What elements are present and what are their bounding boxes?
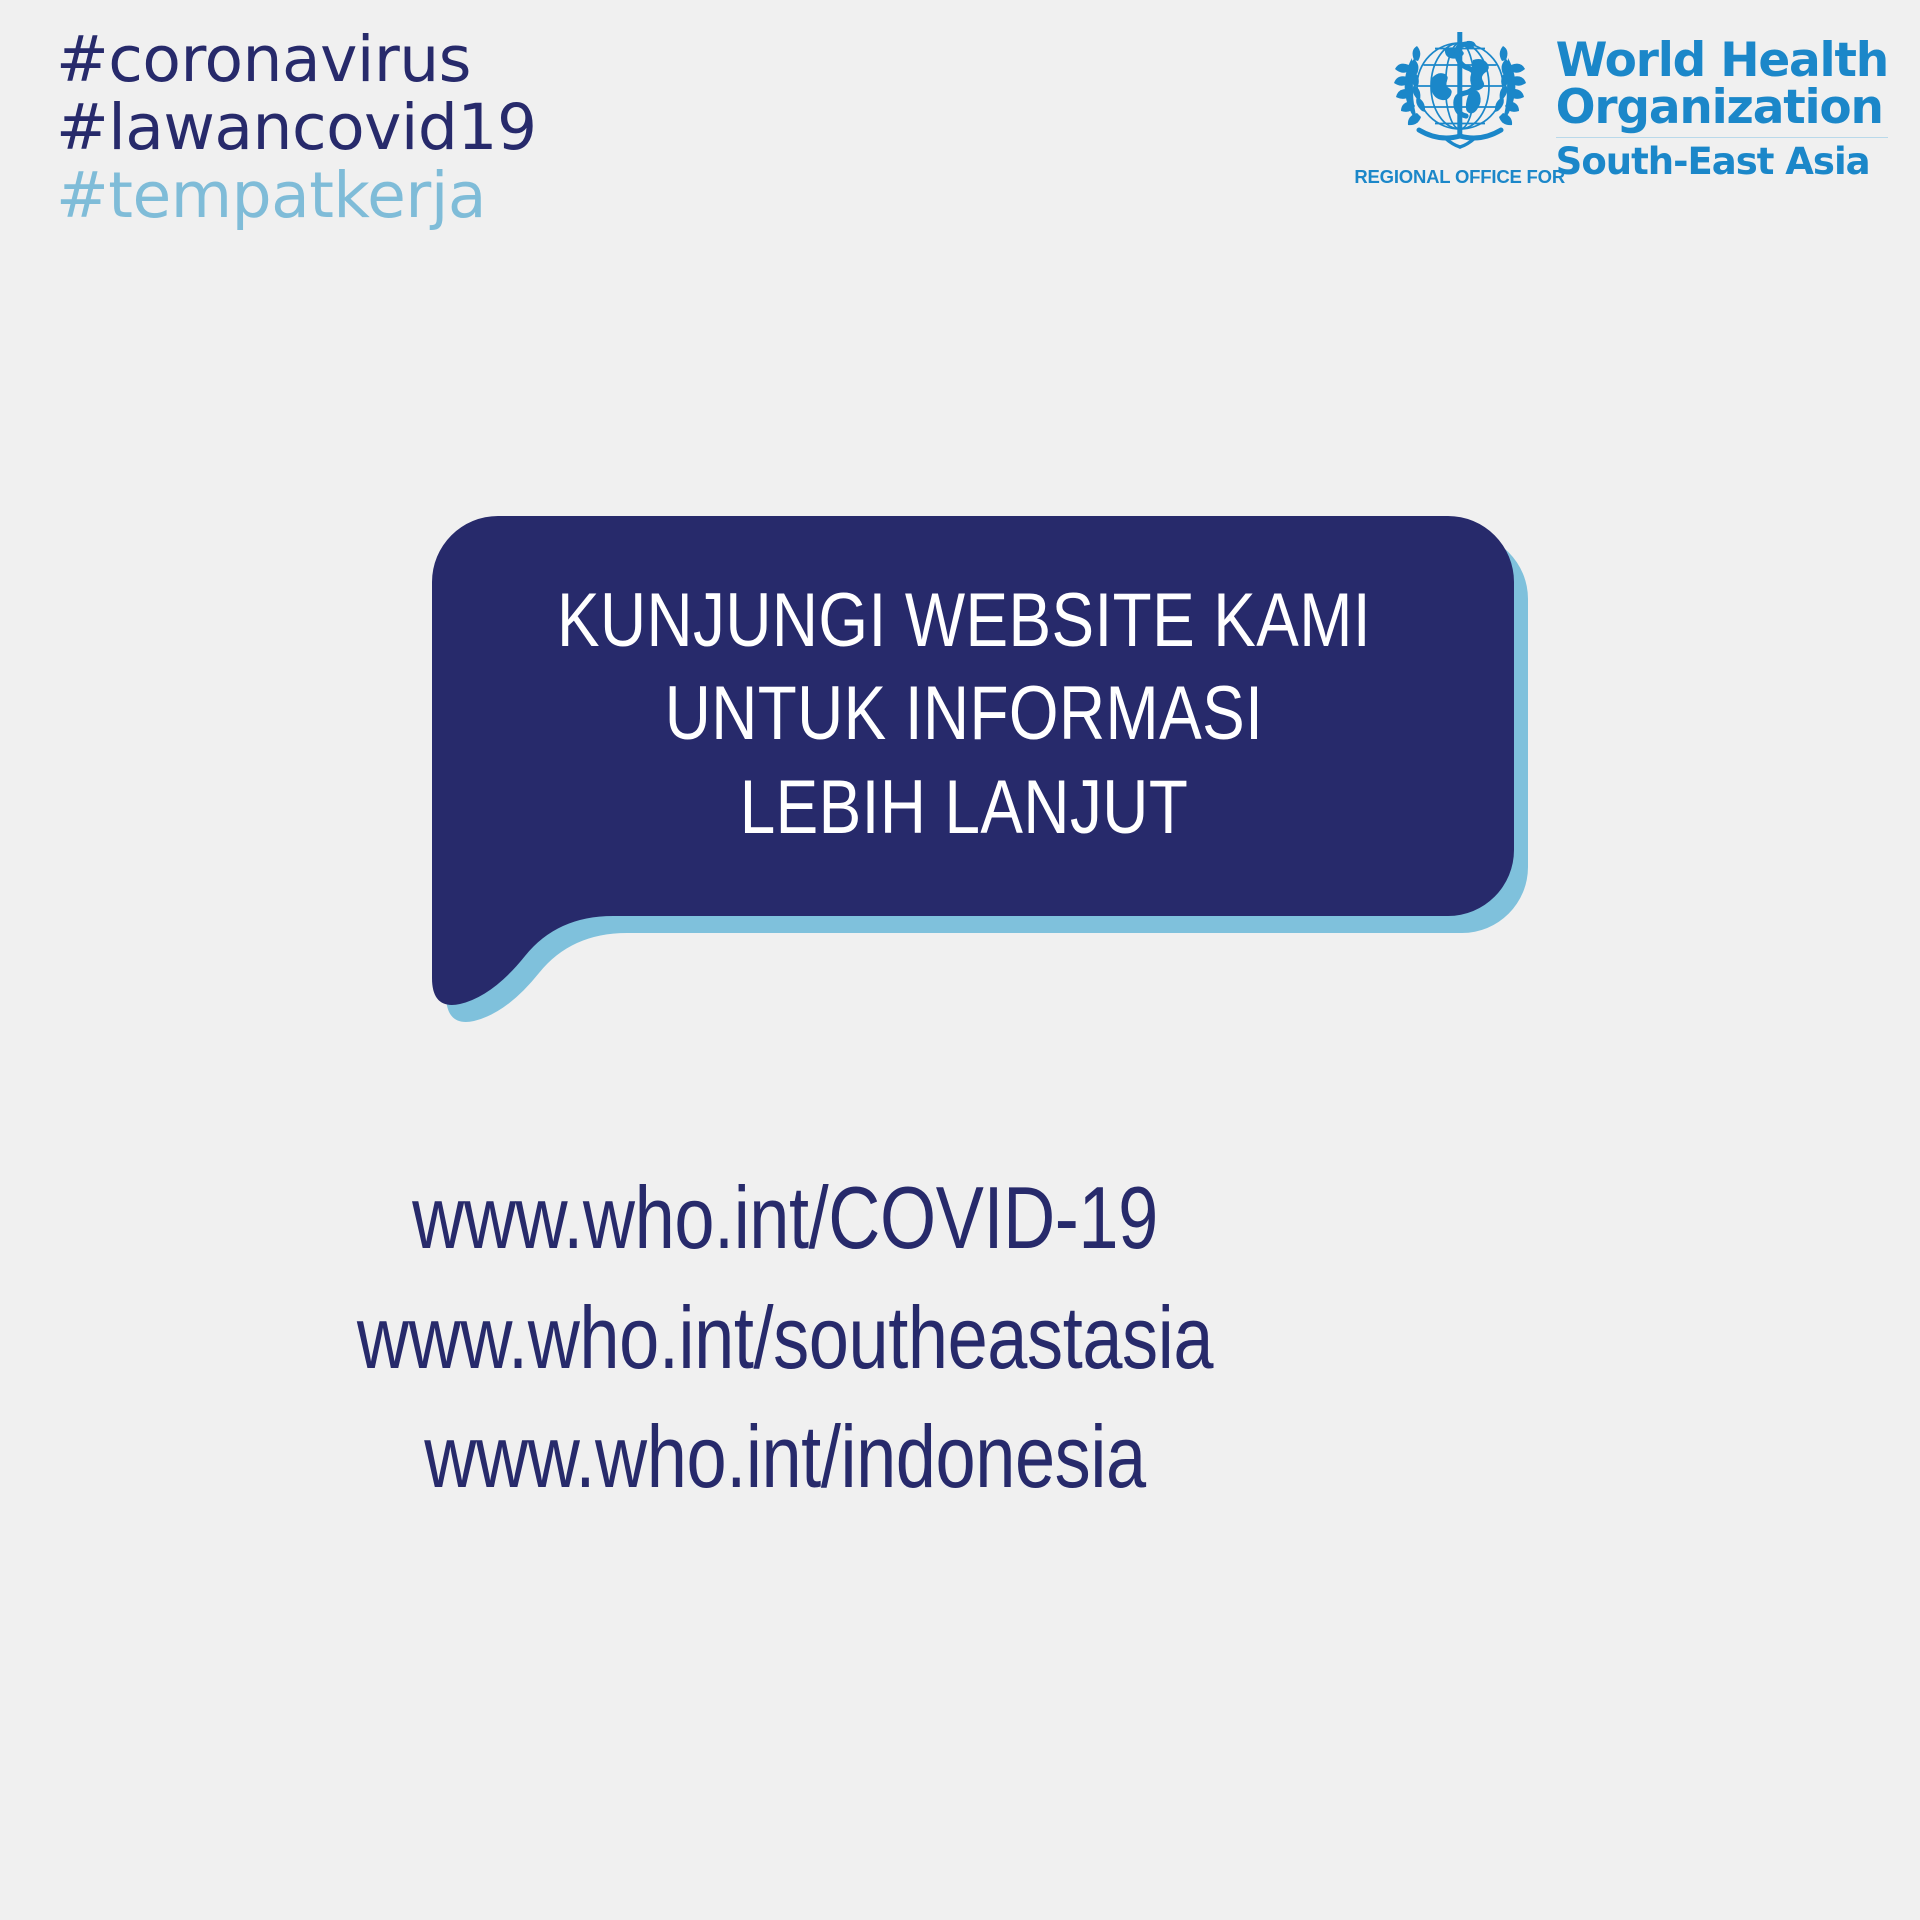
- hashtag-coronavirus: #coronavirus: [56, 26, 537, 94]
- url-list: www.who.int/COVID-19 www.who.int/southea…: [0, 1158, 1570, 1517]
- hashtag-tempatkerja: #tempatkerja: [56, 162, 537, 230]
- hashtag-lawancovid19: #lawancovid19: [56, 94, 537, 162]
- who-emblem-icon: [1385, 20, 1535, 165]
- hashtag-block: #coronavirus #lawancovid19 #tempatkerja: [56, 26, 537, 230]
- url-covid19[interactable]: www.who.int/COVID-19: [141, 1158, 1428, 1278]
- who-regional-label: REGIONAL OFFICE FOR: [1354, 166, 1565, 188]
- url-southeastasia[interactable]: www.who.int/southeastasia: [141, 1278, 1428, 1398]
- bubble-line-2: UNTUK INFORMASI: [505, 667, 1422, 760]
- who-divider: [1556, 137, 1888, 138]
- who-emblem-column: REGIONAL OFFICE FOR: [1374, 20, 1546, 188]
- speech-bubble: KUNJUNGI WEBSITE KAMI UNTUK INFORMASI LE…: [418, 512, 1528, 1022]
- bubble-line-1: KUNJUNGI WEBSITE KAMI: [505, 574, 1422, 667]
- who-wordmark: World Health Organization South-East Asi…: [1556, 20, 1888, 180]
- who-name-line1: World Health: [1556, 37, 1888, 84]
- who-logo: REGIONAL OFFICE FOR World Health Organiz…: [1374, 20, 1888, 188]
- who-name-line2: Organization: [1556, 84, 1888, 131]
- bubble-line-3: LEBIH LANJUT: [505, 761, 1422, 854]
- url-indonesia[interactable]: www.who.int/indonesia: [141, 1397, 1428, 1517]
- who-region-label: South-East Asia: [1556, 143, 1888, 180]
- bubble-text-block: KUNJUNGI WEBSITE KAMI UNTUK INFORMASI LE…: [505, 512, 1422, 854]
